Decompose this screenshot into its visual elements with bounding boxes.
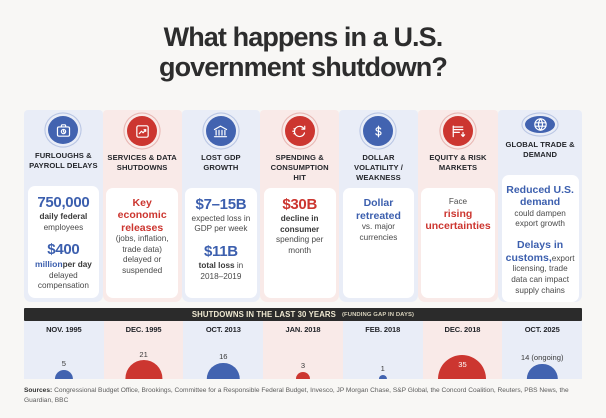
stat-block: Facerising uncertainties — [425, 197, 490, 232]
timeline-column: DEC. 201835 — [423, 321, 503, 379]
bank-building-icon — [206, 116, 236, 146]
shutdown-timeline: NOV. 19955DEC. 199521OCT. 201316JAN. 201… — [24, 321, 582, 379]
impact-card: Key economic releases(jobs, inflation, t… — [106, 188, 178, 298]
column-header: SERVICES & DATA SHUTDOWNS — [103, 153, 182, 183]
impact-column: GLOBAL TRADE & DEMANDReduced U.S. demand… — [498, 110, 582, 302]
stat-headline: rising uncertainties — [425, 208, 490, 233]
timeline-dome — [55, 370, 73, 379]
stat-headline: Key economic releases — [110, 197, 174, 234]
impact-card: 750,000daily federal employees$400 milli… — [28, 186, 100, 298]
stat-emphasis: per day — [63, 260, 92, 269]
timeline-date: JAN. 2018 — [286, 325, 321, 334]
impact-card: $7–15Bexpected loss in GDP per week$11Bt… — [185, 188, 257, 298]
timeline-column: DEC. 199521 — [104, 321, 184, 379]
column-header: DOLLAR VOLATILITY / WEAKNESS — [339, 153, 418, 183]
timeline-value: 16 — [219, 352, 227, 361]
stat-headline: Dollar retreated — [347, 197, 411, 222]
sources-label: Sources: — [24, 387, 52, 394]
timeline-value: 35 — [458, 360, 466, 369]
stat-prefix: Face — [425, 197, 490, 208]
impact-card: Dollar retreatedvs. major currencies — [343, 188, 415, 298]
stat-block: $11Btotal loss in 2018–2019 — [189, 244, 253, 282]
impact-card: Reduced U.S. demandcould dampen export g… — [502, 175, 579, 302]
timeline-value: 14 (ongoing) — [521, 353, 564, 362]
timeline-dome — [527, 364, 557, 379]
stat-headline: Reduced U.S. demand — [506, 184, 575, 209]
dollar-coin-icon — [363, 116, 393, 146]
stat-description: vs. major currencies — [360, 222, 398, 242]
timeline-column: NOV. 19955 — [24, 321, 104, 379]
impact-card: Facerising uncertainties — [421, 188, 494, 298]
globe-icon — [525, 116, 555, 133]
timeline-value: 3 — [301, 361, 305, 370]
stat-block: Reduced U.S. demandcould dampen export g… — [506, 184, 575, 230]
title-line-2: government shutdown? — [24, 52, 582, 82]
timeline-banner: SHUTDOWNS IN THE LAST 30 YEARS (FUNDING … — [24, 308, 582, 321]
briefcase-clock-icon — [48, 116, 78, 144]
impact-column: LOST GDP GROWTH$7–15Bexpected loss in GD… — [182, 110, 261, 302]
column-header: FURLOUGHS & PAYROLL DELAYS — [24, 151, 103, 181]
timeline-value: 21 — [139, 350, 147, 359]
timeline-column: OCT. 202514 (ongoing) — [502, 321, 582, 379]
stat-emphasis: total loss — [199, 261, 235, 270]
stat-emphasis: decline in consumer — [280, 214, 319, 234]
stat-block: 750,000daily federal employees — [32, 195, 96, 233]
timeline-date: DEC. 1995 — [126, 325, 162, 334]
stat-description: employees — [44, 223, 84, 232]
impact-columns: FURLOUGHS & PAYROLL DELAYS750,000daily f… — [24, 110, 582, 302]
timeline-date: DEC. 2018 — [445, 325, 481, 334]
page-title: What happens in a U.S. government shutdo… — [0, 0, 606, 92]
timeline-date: OCT. 2025 — [525, 325, 560, 334]
stat-unit: million — [35, 259, 63, 269]
stat-block: $30Bdecline in consumer spending per mon… — [268, 197, 332, 256]
stat-description: expected loss in GDP per week — [192, 214, 251, 234]
column-header: LOST GDP GROWTH — [182, 153, 261, 183]
impact-card: $30Bdecline in consumer spending per mon… — [264, 188, 336, 298]
stat-value: $30B — [268, 197, 332, 214]
column-header: GLOBAL TRADE & DEMAND — [498, 140, 582, 170]
chart-document-icon — [127, 116, 157, 146]
stat-block: Key economic releases(jobs, inflation, t… — [110, 197, 174, 277]
impact-column: EQUITY & RISK MARKETSFacerising uncertai… — [418, 110, 498, 302]
stat-block: Dollar retreatedvs. major currencies — [347, 197, 411, 243]
stat-value: $400 — [47, 241, 79, 258]
timeline-date: OCT. 2013 — [206, 325, 241, 334]
timeline-value: 5 — [62, 359, 66, 368]
timeline-date: NOV. 1995 — [46, 325, 82, 334]
sources-text: Congressional Budget Office, Brookings, … — [24, 387, 569, 404]
impact-column: SERVICES & DATA SHUTDOWNSKey economic re… — [103, 110, 182, 302]
falling-bar-chart-icon — [443, 116, 473, 146]
title-line-1: What happens in a U.S. — [24, 22, 582, 52]
banner-title: SHUTDOWNS IN THE LAST 30 YEARS — [192, 310, 336, 319]
impact-column: DOLLAR VOLATILITY / WEAKNESSDollar retre… — [339, 110, 418, 302]
stat-description: delayed compensation — [38, 271, 89, 291]
timeline-dome — [296, 372, 310, 379]
stat-value: $11B — [189, 244, 253, 261]
stat-emphasis: daily federal — [39, 212, 87, 221]
column-header: EQUITY & RISK MARKETS — [418, 153, 498, 183]
banner-subtitle: (FUNDING GAP IN DAYS) — [342, 312, 414, 318]
timeline-dome — [379, 375, 387, 379]
stat-block: Delays in customs,export licensing, trad… — [506, 239, 575, 296]
stat-block: $400 millionper day delayed compensation — [32, 242, 96, 292]
impact-column: SPENDING & CONSUMPTION HIT$30Bdecline in… — [260, 110, 339, 302]
stat-description: could dampen export growth — [514, 209, 565, 229]
timeline-value: 1 — [381, 364, 385, 373]
timeline-column: JAN. 20183 — [263, 321, 343, 379]
circular-arrow-decline-icon — [285, 116, 315, 146]
stat-value: $7–15B — [189, 197, 253, 214]
timeline-date: FEB. 2018 — [365, 325, 400, 334]
sources-footer: Sources: Congressional Budget Office, Br… — [24, 386, 584, 406]
stat-description: (jobs, inflation, trade data) delayed or… — [116, 234, 169, 275]
column-header: SPENDING & CONSUMPTION HIT — [260, 153, 339, 183]
timeline-column: OCT. 201316 — [183, 321, 263, 379]
impact-column: FURLOUGHS & PAYROLL DELAYS750,000daily f… — [24, 110, 103, 302]
stat-description: spending per month — [276, 235, 323, 255]
stat-block: $7–15Bexpected loss in GDP per week — [189, 197, 253, 235]
stat-value: 750,000 — [32, 195, 96, 212]
timeline-dome — [125, 360, 162, 379]
timeline-column: FEB. 20181 — [343, 321, 423, 379]
timeline-dome — [207, 363, 239, 379]
